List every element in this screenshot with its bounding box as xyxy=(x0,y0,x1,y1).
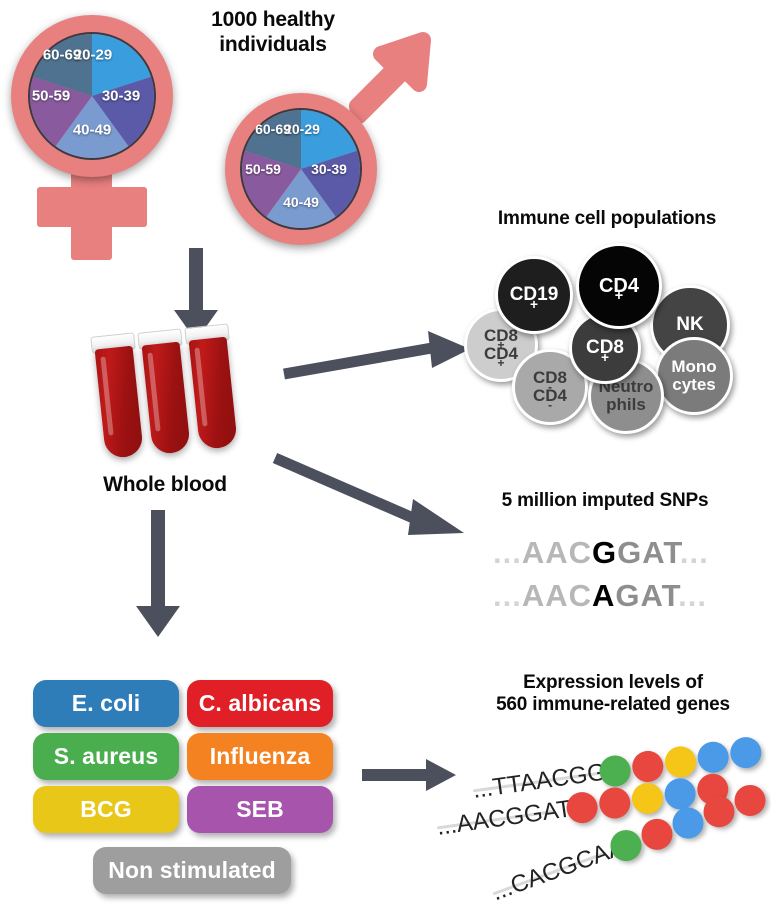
strand-sequence-3: ...CACGCAA xyxy=(488,833,628,907)
expression-line-2: 560 immune-related genes xyxy=(455,694,771,716)
stim-box-bcg[interactable]: BCG xyxy=(33,786,179,833)
strand-sequence-2: ...AACGGAT xyxy=(435,795,573,842)
expression-line-1: Expression levels of xyxy=(455,672,771,694)
stim-box-c-albicans[interactable]: C. albicans xyxy=(187,680,333,727)
dna-strands-group: ...TTAACGG ...AACGGAT ...CACGCAA xyxy=(455,745,771,915)
dna-bead xyxy=(699,792,739,832)
diagram-canvas: 1000 healthy individuals 20-29 30-39 40-… xyxy=(0,0,771,922)
dna-bead xyxy=(730,781,770,821)
dna-bead xyxy=(597,786,632,821)
stim-box-s-aureus[interactable]: S. aureus xyxy=(33,733,179,780)
stim-box-seb[interactable]: SEB xyxy=(187,786,333,833)
section-title-expression: Expression levels of 560 immune-related … xyxy=(455,672,771,717)
stim-box-e-coli[interactable]: E. coli xyxy=(33,680,179,727)
stim-box-influenza[interactable]: Influenza xyxy=(187,733,333,780)
dna-bead xyxy=(637,814,677,854)
stim-box-non-stimulated[interactable]: Non stimulated xyxy=(93,847,291,894)
dna-bead xyxy=(668,803,708,843)
